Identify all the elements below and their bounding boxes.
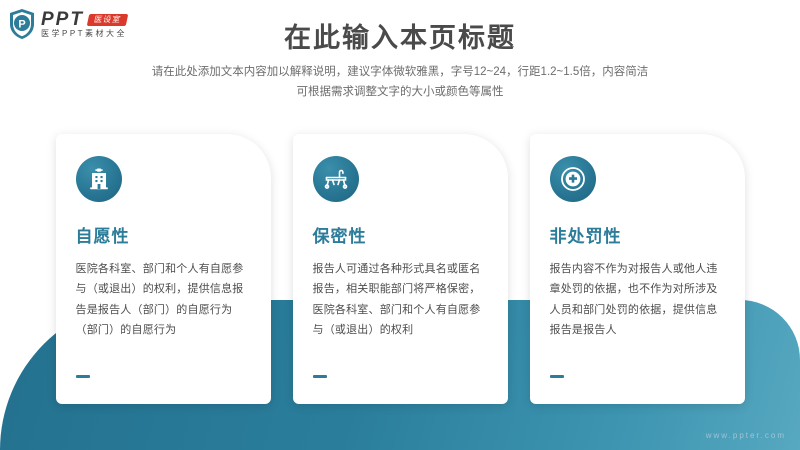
feature-card-confidential[interactable]: 保密性 报告人可通过各种形式具名或匿名报告，相关职能部门将严格保密，医院各科室、… (293, 134, 508, 404)
card-accent-dash (76, 375, 90, 378)
svg-text:P: P (18, 19, 25, 31)
feature-card-non-punitive[interactable]: 非处罚性 报告内容不作为对报告人或他人违章处罚的依据，也不作为对所涉及人员和部门… (530, 134, 745, 404)
brand-logo[interactable]: P PPT 医设室 医学PPT素材大全 (8, 8, 127, 40)
medical-cross-circle-icon (550, 156, 596, 202)
card-accent-dash (550, 375, 564, 378)
feature-cards: 自愿性 医院各科室、部门和个人有自愿参与（或退出）的权利，提供信息报告是报告人（… (0, 134, 800, 404)
card-title: 非处罚性 (550, 222, 725, 247)
card-accent-dash (313, 375, 327, 378)
card-body: 医院各科室、部门和个人有自愿参与（或退出）的权利，提供信息报告是报告人（部门）的… (76, 259, 251, 340)
card-body: 报告人可通过各种形式具名或匿名报告，相关职能部门将严格保密，医院各科室、部门和个… (313, 259, 488, 340)
hospital-bed-icon (313, 156, 359, 202)
shield-icon: P (8, 8, 36, 40)
page-subtitle: 请在此处添加文本内容加以解释说明，建议字体微软雅黑，字号12~24，行距1.2~… (0, 62, 800, 102)
subtitle-line-2: 可根据需求调整文字的大小或颜色等属性 (0, 82, 800, 102)
site-watermark: www.ppter.com (706, 431, 786, 440)
logo-ppt-text: PPT (41, 10, 84, 29)
card-title: 自愿性 (76, 222, 251, 247)
feature-card-voluntary[interactable]: 自愿性 医院各科室、部门和个人有自愿参与（或退出）的权利，提供信息报告是报告人（… (56, 134, 271, 404)
subtitle-line-1: 请在此处添加文本内容加以解释说明，建议字体微软雅黑，字号12~24，行距1.2~… (0, 62, 800, 82)
card-body: 报告内容不作为对报告人或他人违章处罚的依据，也不作为对所涉及人员和部门处罚的依据… (550, 259, 725, 340)
logo-tagline: 医学PPT素材大全 (41, 30, 127, 38)
card-title: 保密性 (313, 222, 488, 247)
logo-badge: 医设室 (87, 14, 129, 26)
hospital-building-icon (76, 156, 122, 202)
